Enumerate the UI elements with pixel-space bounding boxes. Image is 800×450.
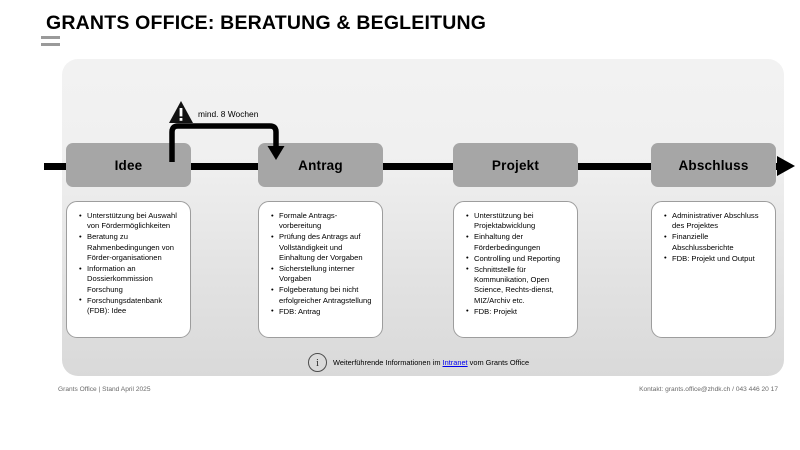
detail-list: Administrativer Abschluss des Projektes …: [657, 211, 768, 264]
list-item: Formale Antrags-vorbereitung: [279, 211, 375, 232]
footer-left: Grants Office | Stand April 2025: [58, 386, 151, 393]
info-footnote-text: Weiterführende Informationen im Intranet…: [333, 358, 529, 367]
warning-triangle-icon: [168, 100, 194, 124]
info-footnote: i Weiterführende Informationen im Intran…: [308, 353, 529, 372]
detail-list: Unterstützung bei Projektabwicklung Einh…: [459, 211, 570, 317]
warning-label: mind. 8 Wochen: [198, 109, 258, 119]
list-item: Prüfung des Antrags auf Vollständigkeit …: [279, 232, 375, 263]
list-item: FDB: Projekt und Output: [672, 254, 768, 264]
list-item: Einhaltung der Förderbedingungen: [474, 232, 570, 253]
stage-box-abschluss[interactable]: Abschluss: [651, 143, 776, 187]
list-item: Unterstützung bei Projektabwicklung: [474, 211, 570, 232]
logo-bar-top: [41, 36, 60, 39]
stage-label: Idee: [115, 158, 143, 173]
list-item: FDB: Projekt: [474, 307, 570, 317]
info-suffix: vom Grants Office: [468, 358, 529, 367]
detail-card-abschluss: Administrativer Abschluss des Projektes …: [651, 201, 776, 338]
right-arrow-icon: [777, 156, 795, 176]
warning-note: mind. 8 Wochen: [168, 100, 298, 150]
list-item: Unterstützung bei Auswahl von Fördermögl…: [87, 211, 183, 232]
intranet-link[interactable]: Intranet: [443, 358, 468, 367]
list-item: Schnittstelle für Kommunikation, Open Sc…: [474, 265, 570, 307]
detail-list: Formale Antrags-vorbereitung Prüfung des…: [264, 211, 375, 317]
footer-right: Kontakt: grants.office@zhdk.ch / 043 446…: [639, 386, 778, 393]
list-item: Administrativer Abschluss des Projektes: [672, 211, 768, 232]
stage-box-projekt[interactable]: Projekt: [453, 143, 578, 187]
stage-label: Abschluss: [678, 158, 748, 173]
slide-canvas: GRANTS OFFICE: BERATUNG & BEGLEITUNG Ide…: [0, 0, 800, 450]
detail-card-antrag: Formale Antrags-vorbereitung Prüfung des…: [258, 201, 383, 338]
list-item: Information an Dossierkommission Forschu…: [87, 264, 183, 295]
list-item: Folgeberatung bei nicht erfolgreicher An…: [279, 285, 375, 306]
info-circle-icon: i: [308, 353, 327, 372]
stage-label: Projekt: [492, 158, 539, 173]
page-title: GRANTS OFFICE: BERATUNG & BEGLEITUNG: [46, 12, 486, 35]
list-item: Beratung zu Rahmenbedingungen von Förder…: [87, 232, 183, 263]
detail-card-projekt: Unterstützung bei Projektabwicklung Einh…: [453, 201, 578, 338]
list-item: FDB: Antrag: [279, 307, 375, 317]
stage-label: Antrag: [298, 158, 343, 173]
list-item: Sicherstellung interner Vorgaben: [279, 264, 375, 285]
detail-card-idee: Unterstützung bei Auswahl von Fördermögl…: [66, 201, 191, 338]
list-item: Controlling und Reporting: [474, 254, 570, 264]
logo-bar-bottom: [41, 43, 60, 46]
equals-mark-icon: [41, 36, 61, 50]
detail-list: Unterstützung bei Auswahl von Fördermögl…: [72, 211, 183, 317]
list-item: Finanzielle Abschlussberichte: [672, 232, 768, 253]
info-prefix: Weiterführende Informationen im: [333, 358, 443, 367]
list-item: Forschungsdatenbank (FDB): Idee: [87, 296, 183, 317]
